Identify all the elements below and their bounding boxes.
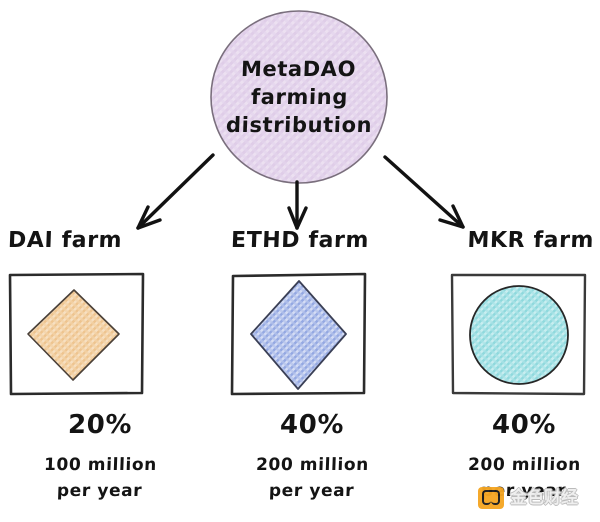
- farm-amount-dai: 100 million per year: [0, 452, 201, 504]
- farm-shape-mkr: [450, 272, 587, 396]
- farm-amount-line-1-ethd: 200 million: [212, 452, 413, 478]
- farm-percent-mkr: 40%: [399, 410, 600, 440]
- farm-amount-line-2-dai: per year: [0, 478, 200, 504]
- arrow-to-mkr: [385, 157, 463, 227]
- watermark: 金色财经: [478, 487, 578, 509]
- farm-percent-dai: 20%: [0, 410, 201, 440]
- farm-box-mkr: [450, 272, 587, 396]
- root-node-metadao: MetaDAO farming distribution: [208, 8, 390, 186]
- farm-column-ethd: ETHD farm 40% 200 million per year: [200, 228, 400, 522]
- jinse-logo-icon: [478, 487, 504, 509]
- farm-title-ethd: ETHD farm: [200, 228, 401, 254]
- farm-column-mkr: MKR farm 40% 200 million per year: [400, 228, 600, 522]
- farm-box-dai: [8, 272, 145, 396]
- root-circle-shape: [208, 8, 390, 186]
- farm-shape-dai: [8, 272, 145, 396]
- farming-distribution-diagram: MetaDAO farming distribution DAI farm: [0, 0, 600, 522]
- farm-title-mkr: MKR farm: [400, 228, 600, 254]
- farm-shape-ethd: [230, 272, 367, 396]
- farm-column-dai: DAI farm 20% 100 million per year: [0, 228, 200, 522]
- farm-percent-ethd: 40%: [199, 410, 412, 440]
- farm-amount-line-2-ethd: per year: [211, 478, 412, 504]
- arrow-to-dai: [138, 155, 213, 228]
- farm-amount-line-1-mkr: 200 million: [424, 452, 600, 478]
- watermark-text: 金色财经: [510, 488, 578, 508]
- farm-amount-line-1-dai: 100 million: [0, 452, 201, 478]
- farm-amount-ethd: 200 million per year: [199, 452, 413, 504]
- arrow-to-ethd: [289, 182, 306, 228]
- farm-title-dai: DAI farm: [0, 228, 200, 254]
- farm-box-ethd: [230, 272, 367, 396]
